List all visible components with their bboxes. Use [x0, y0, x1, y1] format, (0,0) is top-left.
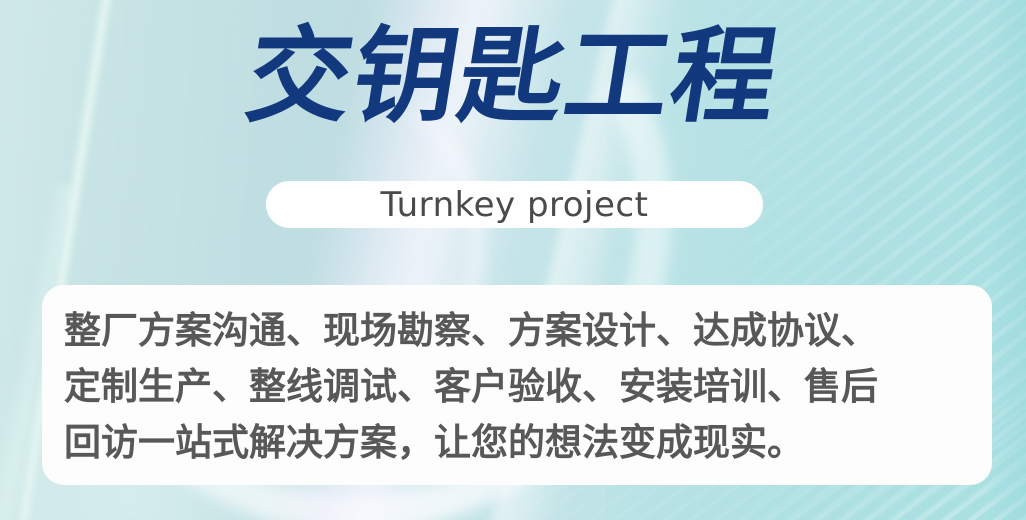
description-line-3: 回访一站式解决方案，让您的想法变成现实。: [56, 415, 978, 471]
subtitle-pill: Turnkey project: [266, 181, 763, 228]
subtitle-text: Turnkey project: [381, 185, 649, 225]
description-card: 整厂方案沟通、现场勘察、方案设计、达成协议、 定制生产、整线调试、客户验收、安装…: [42, 285, 992, 485]
turnkey-project-banner: 交钥匙工程 Turnkey project 整厂方案沟通、现场勘察、方案设计、达…: [0, 0, 1026, 520]
description-line-2: 定制生产、整线调试、客户验收、安装培训、售后: [56, 359, 978, 415]
banner-title: 交钥匙工程: [0, 16, 1026, 139]
description-line-1: 整厂方案沟通、现场勘察、方案设计、达成协议、: [56, 303, 978, 359]
banner-content: 交钥匙工程 Turnkey project 整厂方案沟通、现场勘察、方案设计、达…: [0, 0, 1026, 520]
